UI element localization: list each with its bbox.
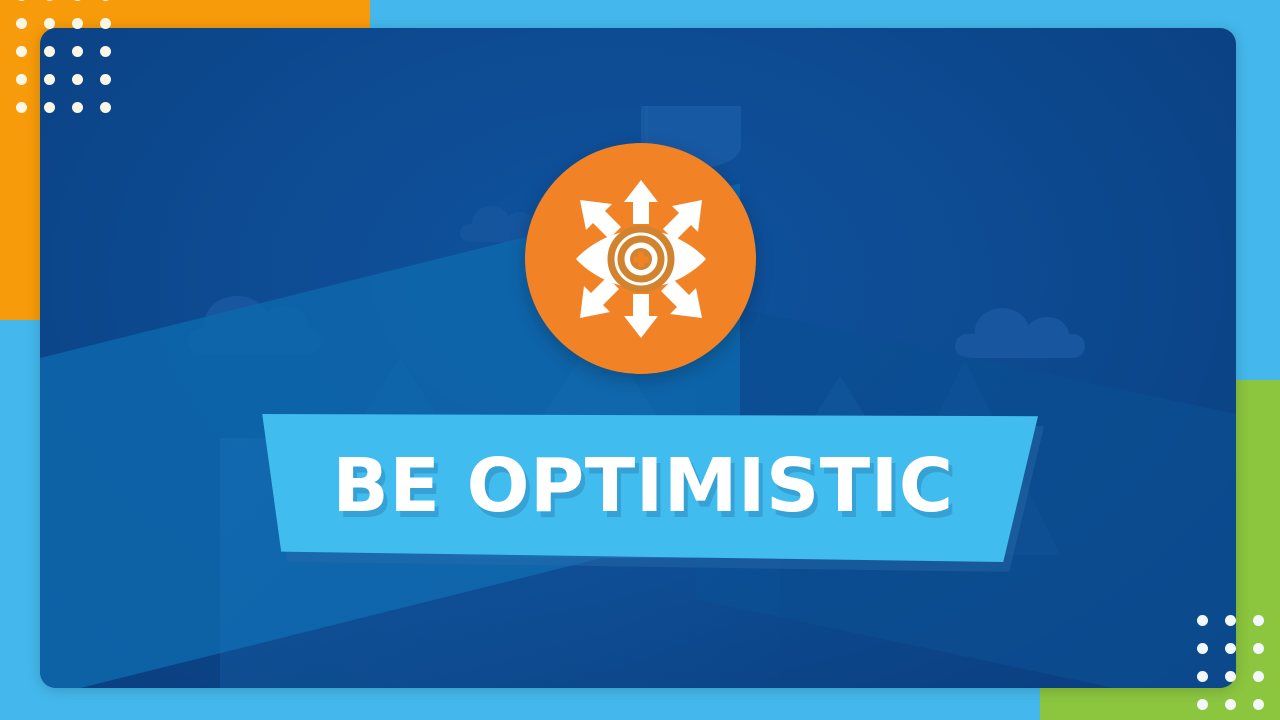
decor-dot [100, 102, 111, 113]
decor-dot [44, 0, 55, 1]
decor-dot [1225, 615, 1236, 626]
decor-dot [16, 74, 27, 85]
decor-dot [1197, 643, 1208, 654]
decor-dot [72, 0, 83, 1]
cloud-icon-right [955, 334, 1085, 358]
decor-dot [72, 18, 83, 29]
decor-dot [44, 74, 55, 85]
decor-dot [1197, 699, 1208, 710]
dot-grid-bottom-right [1197, 615, 1264, 710]
title-banner-body: BE OPTIMISTIC [248, 414, 1038, 562]
decor-dot [1253, 643, 1264, 654]
decor-dot [1225, 643, 1236, 654]
decor-dot [1253, 699, 1264, 710]
decor-dot [1197, 615, 1208, 626]
decor-dot [100, 18, 111, 29]
decor-dot [16, 0, 27, 1]
decor-dot [1253, 671, 1264, 682]
decor-dot [44, 18, 55, 29]
decor-dot [16, 46, 27, 57]
dot-grid-top-left [16, 0, 111, 113]
decor-dot [100, 74, 111, 85]
decor-dot [1225, 671, 1236, 682]
decor-dot [16, 102, 27, 113]
decor-dot [44, 102, 55, 113]
decor-dot [1225, 699, 1236, 710]
decor-dot [100, 0, 111, 1]
decor-dot [1197, 671, 1208, 682]
icon-badge [525, 143, 756, 374]
decor-dot [100, 46, 111, 57]
decor-dot [72, 46, 83, 57]
decor-dot [72, 74, 83, 85]
decor-dot [72, 102, 83, 113]
decor-dot [16, 18, 27, 29]
eye-expand-plus-icon [546, 164, 736, 354]
decor-dot [44, 46, 55, 57]
page-title: BE OPTIMISTIC [332, 449, 953, 523]
title-banner: BE OPTIMISTIC [248, 414, 1038, 562]
slide-canvas: BE OPTIMISTIC [0, 0, 1280, 720]
decor-dot [1253, 615, 1264, 626]
